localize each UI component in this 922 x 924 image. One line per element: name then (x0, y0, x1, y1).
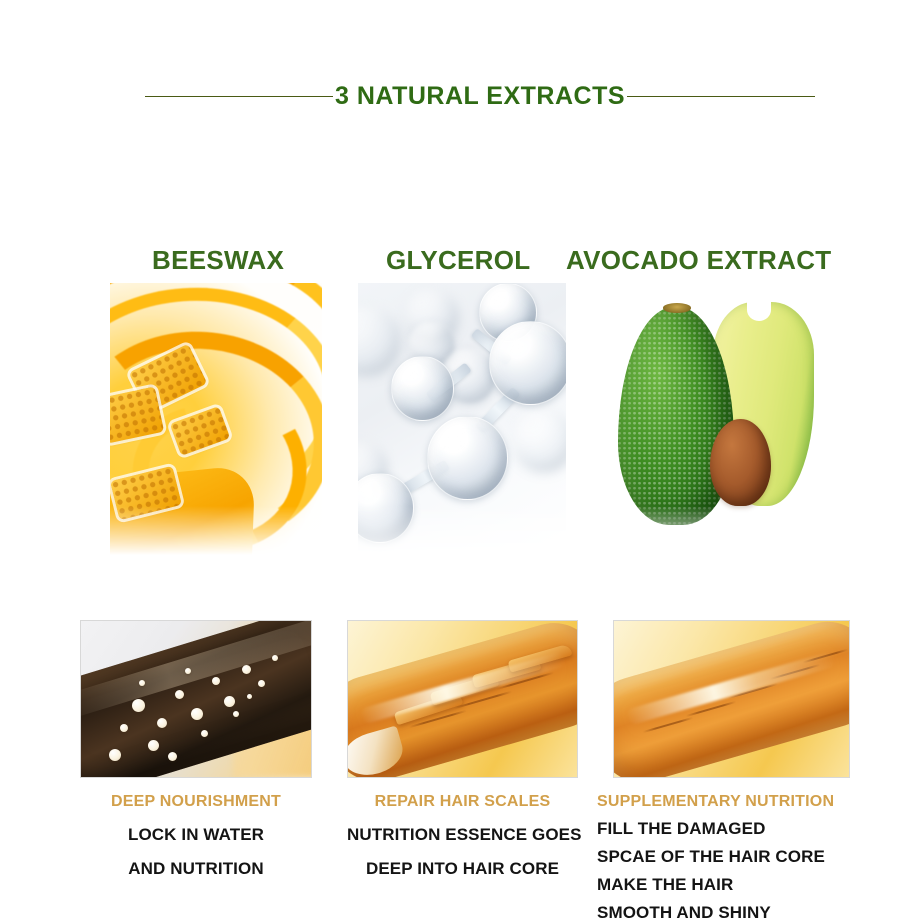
avocado-whole-and-half-photo (605, 283, 820, 555)
golden-smooth-hair-strand-photo (613, 620, 850, 778)
benefit-line-3-4: SMOOTH AND SHINY (597, 901, 897, 924)
avocado-pit (710, 419, 770, 506)
avocado-half-notch (747, 299, 771, 321)
benefit-line-1-1: LOCK IN WATER (80, 823, 312, 846)
ingredient-label-beeswax: BEESWAX (152, 243, 284, 277)
benefit-line-1-2: AND NUTRITION (80, 857, 312, 880)
benefit-heading-1: DEEP NOURISHMENT (80, 792, 312, 812)
benefit-caption-repair-hair-scales: REPAIR HAIR SCALES NUTRITION ESSENCE GOE… (347, 792, 578, 880)
benefit-line-2-1: NUTRITION ESSENCE GOES (347, 823, 578, 846)
ingredient-label-avocado-extract: AVOCADO EXTRACT (566, 243, 831, 277)
benefit-line-3-2: SPCAE OF THE HAIR CORE (597, 845, 897, 868)
molecule-atom-left (391, 356, 453, 421)
glycerol-molecule-spheres-photo (358, 283, 566, 555)
ingredient-label-glycerol: GLYCEROL (386, 243, 530, 277)
benefit-heading-3: SUPPLEMENTARY NUTRITION (597, 792, 897, 812)
header-rule-left (145, 96, 333, 97)
moisture-droplets (81, 621, 311, 777)
ingredient-image-row (0, 283, 922, 563)
benefit-line-3-1: FILL THE DAMAGED (597, 817, 897, 840)
page-title: 3 NATURAL EXTRACTS (333, 84, 627, 109)
molecule-atom-bg-5 (512, 408, 566, 473)
benefit-image-row (0, 620, 922, 780)
benefit-line-3-3: MAKE THE HAIR (597, 873, 897, 896)
avocado-stem (663, 303, 691, 313)
molecule-atom-center (427, 416, 508, 500)
header-rule-right (627, 96, 815, 97)
benefit-caption-supplementary-nutrition: SUPPLEMENTARY NUTRITION FILL THE DAMAGED… (597, 792, 897, 924)
benefit-caption-deep-nourishment: DEEP NOURISHMENT LOCK IN WATER AND NUTRI… (80, 792, 312, 880)
ingredient-label-row: BEESWAX GLYCEROL AVOCADO EXTRACT (0, 243, 922, 277)
benefit-caption-row: DEEP NOURISHMENT LOCK IN WATER AND NUTRI… (0, 792, 922, 922)
golden-hair-strand-with-lifted-scales-photo (347, 620, 578, 778)
benefit-line-2-2: DEEP INTO HAIR CORE (347, 857, 578, 880)
page-header: 3 NATURAL EXTRACTS (0, 74, 922, 118)
molecule-atom-right-large (489, 321, 566, 405)
benefit-heading-2: REPAIR HAIR SCALES (347, 792, 578, 812)
dark-hair-strand-with-droplets-photo (80, 620, 312, 778)
honey-beeswax-swirl-photo (110, 283, 322, 555)
